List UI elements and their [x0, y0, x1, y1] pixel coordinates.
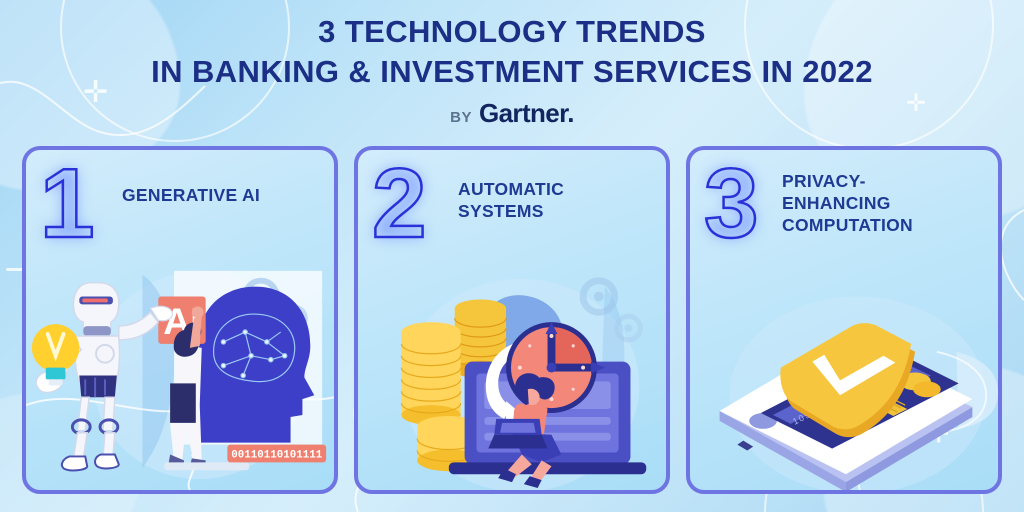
- card-1-number: 1: [40, 154, 95, 252]
- trend-card-list: 1 GENERATIVE AI: [22, 146, 1002, 494]
- card-3-title-line-2: ENHANCING: [782, 192, 990, 214]
- card-3-number: 3: [704, 154, 759, 252]
- coin-stack: [401, 322, 460, 425]
- attribution-brand: Gartner.: [479, 98, 574, 129]
- trend-card-3[interactable]: 3 PRIVACY- ENHANCING COMPUTATION ✛: [686, 146, 1002, 494]
- card-3-title-line-1: PRIVACY-: [782, 170, 990, 192]
- card-2-illustration: [358, 254, 666, 490]
- card-3-head: 3 PRIVACY- ENHANCING COMPUTATION: [690, 158, 998, 268]
- card-3-title: PRIVACY- ENHANCING COMPUTATION: [782, 170, 990, 236]
- card-2-title-line-2: SYSTEMS: [458, 200, 658, 222]
- card-2-number: 2: [372, 154, 427, 252]
- card-3-title-line-3: COMPUTATION: [782, 214, 990, 236]
- trend-card-1[interactable]: 1 GENERATIVE AI: [22, 146, 338, 494]
- binary-strip-label: 00110110101111: [231, 449, 323, 461]
- page-title-line-2: IN BANKING & INVESTMENT SERVICES IN 2022: [0, 52, 1024, 92]
- card-1-title: GENERATIVE AI: [122, 184, 326, 206]
- card-2-head: 2 AUTOMATIC SYSTEMS: [358, 158, 666, 268]
- card-1-head: 1 GENERATIVE AI: [26, 158, 334, 268]
- card-2-title-line-1: AUTOMATIC: [458, 178, 658, 200]
- page-title-line-1: 3 TECHNOLOGY TRENDS: [0, 12, 1024, 52]
- header: 3 TECHNOLOGY TRENDS IN BANKING & INVESTM…: [0, 12, 1024, 129]
- attribution-by-label: BY: [450, 109, 472, 126]
- trend-card-2[interactable]: 2 AUTOMATIC SYSTEMS: [354, 146, 670, 494]
- card-1-illustration: AI 00110110101111: [26, 254, 334, 490]
- card-3-illustration: ✛: [690, 254, 998, 490]
- card-2-title: AUTOMATIC SYSTEMS: [458, 178, 658, 222]
- attribution: BY Gartner.: [0, 98, 1024, 129]
